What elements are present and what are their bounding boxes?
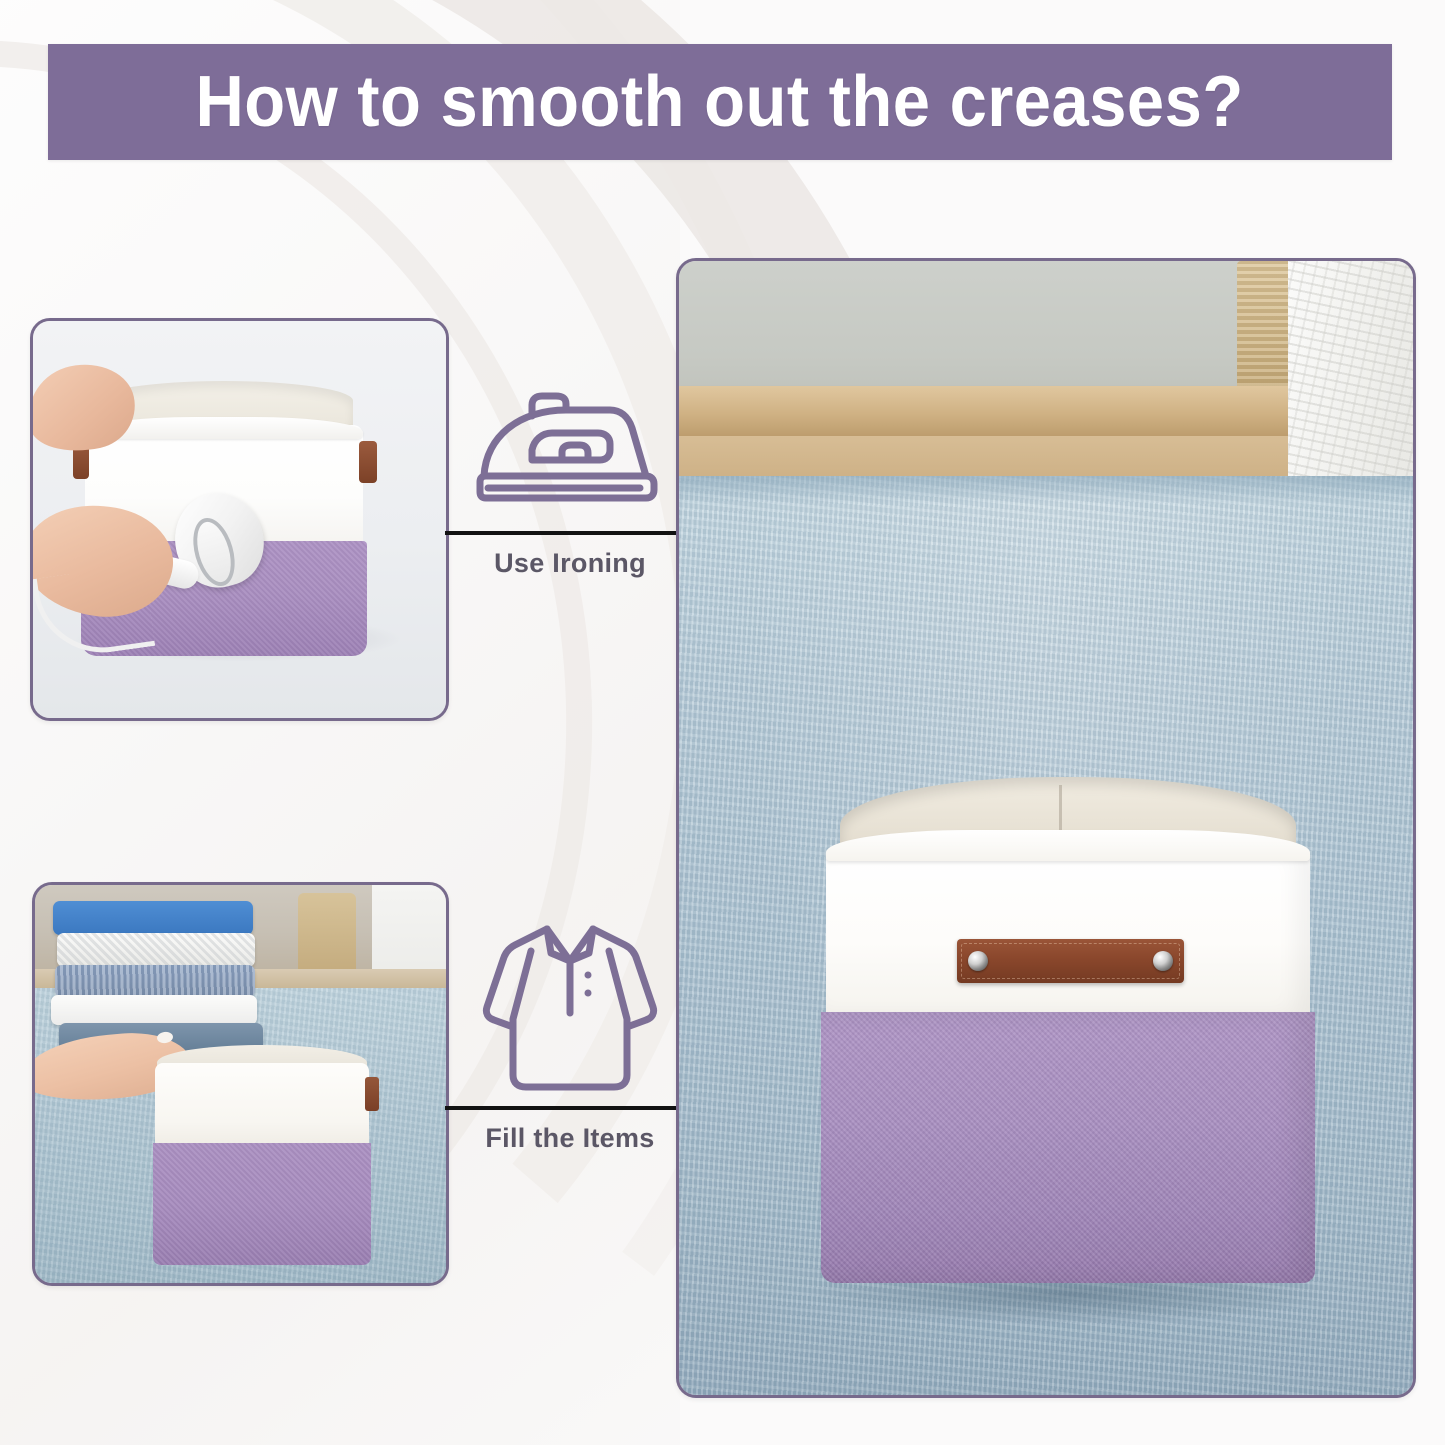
folded-white-knit <box>57 933 255 967</box>
arrow-shaft <box>445 1106 679 1110</box>
bin-leather-tab <box>365 1077 379 1111</box>
folded-striped-top <box>55 965 255 997</box>
step-fill-the-items: Fill the Items <box>445 915 695 1154</box>
bin-rim <box>826 830 1310 861</box>
page-title: How to smooth out the creases? <box>196 61 1244 143</box>
storage-bin <box>826 783 1310 1305</box>
step-label-use-ironing: Use Ironing <box>445 548 695 579</box>
filling-bin-photo-content <box>35 885 446 1283</box>
finished-bin-photo <box>676 258 1416 1398</box>
arrow-right-icon <box>445 526 695 538</box>
infographic-canvas: How to smooth out the creases? <box>0 0 1445 1445</box>
iron-icon <box>445 390 695 518</box>
folded-blue-shirt <box>53 901 253 935</box>
bin-purple-section <box>153 1143 371 1265</box>
finished-bin-photo-content <box>679 261 1413 1395</box>
filling-bin-photo <box>32 882 449 1286</box>
grommet-right <box>1153 951 1173 971</box>
polo-shirt-icon <box>445 915 695 1093</box>
step-use-ironing: Use Ironing <box>445 390 695 579</box>
steaming-bin-photo-content <box>33 321 446 718</box>
leather-handle <box>957 939 1185 983</box>
arrow-shaft <box>445 531 679 535</box>
arrow-right-icon <box>445 1101 695 1113</box>
steaming-bin-photo <box>30 318 449 721</box>
bin-white-section <box>155 1063 369 1147</box>
rug-front-edge <box>679 476 1413 503</box>
bin-leather-tab-right <box>359 441 377 483</box>
header-banner: How to smooth out the creases? <box>48 44 1392 160</box>
step-label-fill-the-items: Fill the Items <box>445 1123 695 1154</box>
folded-white-shirt <box>51 995 257 1025</box>
bin-purple-section <box>821 1012 1315 1283</box>
bin-white-section <box>826 850 1310 1017</box>
woven-basket <box>298 893 356 981</box>
grommet-left <box>968 951 988 971</box>
